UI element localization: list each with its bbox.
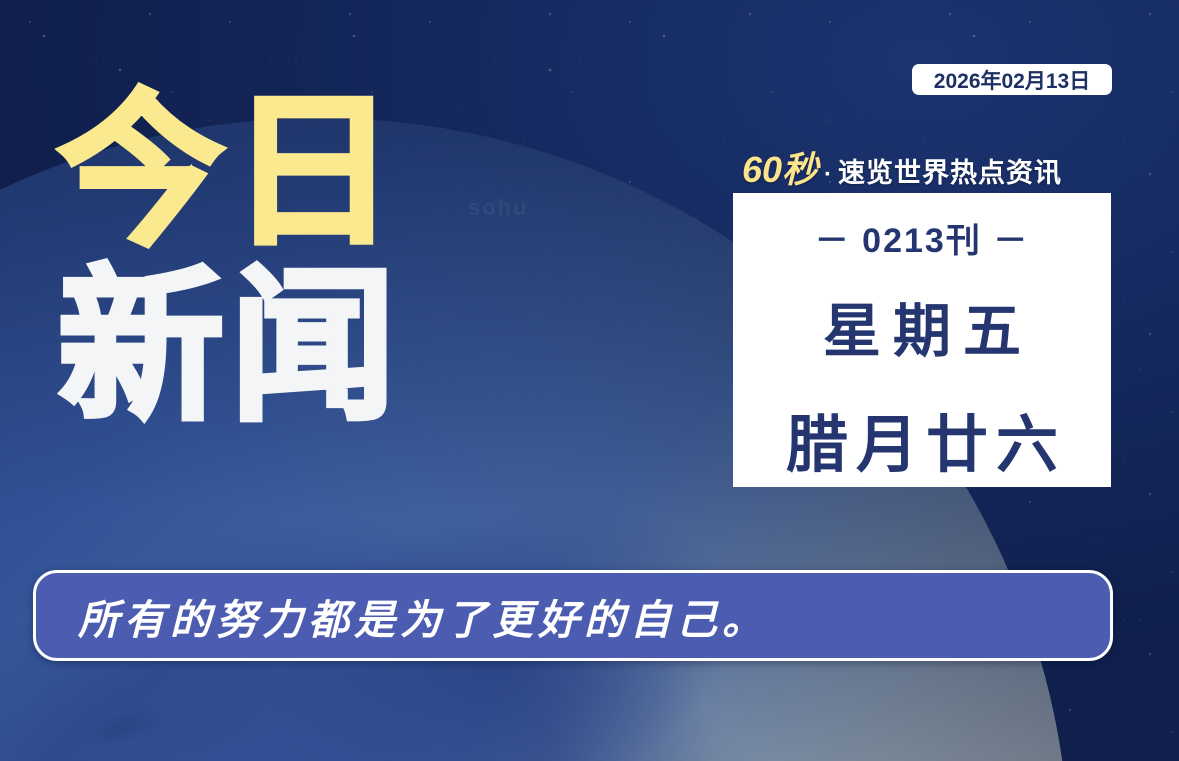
tagline-description: 速览世界热点资讯 (838, 151, 1062, 190)
issue-number: － 0213刊 － (815, 213, 1030, 262)
date-info-card: － 0213刊 － 星期五 腊月廿六 (733, 193, 1111, 487)
quote-banner: 所有的努力都是为了更好的自己。 (33, 570, 1113, 661)
news-poster: sohu 今日 新闻 2026年02月13日 60秒 · 速览世界热点资讯 － … (0, 0, 1179, 761)
poster-title: 今日 新闻 (58, 92, 402, 429)
quote-text: 所有的努力都是为了更好的自己。 (36, 586, 768, 646)
title-line-news: 新闻 (58, 267, 402, 430)
tagline-seconds: 60秒 (742, 141, 818, 193)
tagline-separator: · (818, 161, 838, 189)
watermark-text: sohu (468, 195, 529, 221)
weekday-label: 星期五 (811, 284, 1033, 368)
lunar-date-label: 腊月廿六 (778, 394, 1066, 484)
tagline: 60秒 · 速览世界热点资讯 (742, 141, 1112, 193)
date-badge-label: 2026年02月13日 (934, 65, 1090, 95)
date-badge: 2026年02月13日 (912, 64, 1112, 95)
title-line-today: 今日 (58, 92, 402, 255)
